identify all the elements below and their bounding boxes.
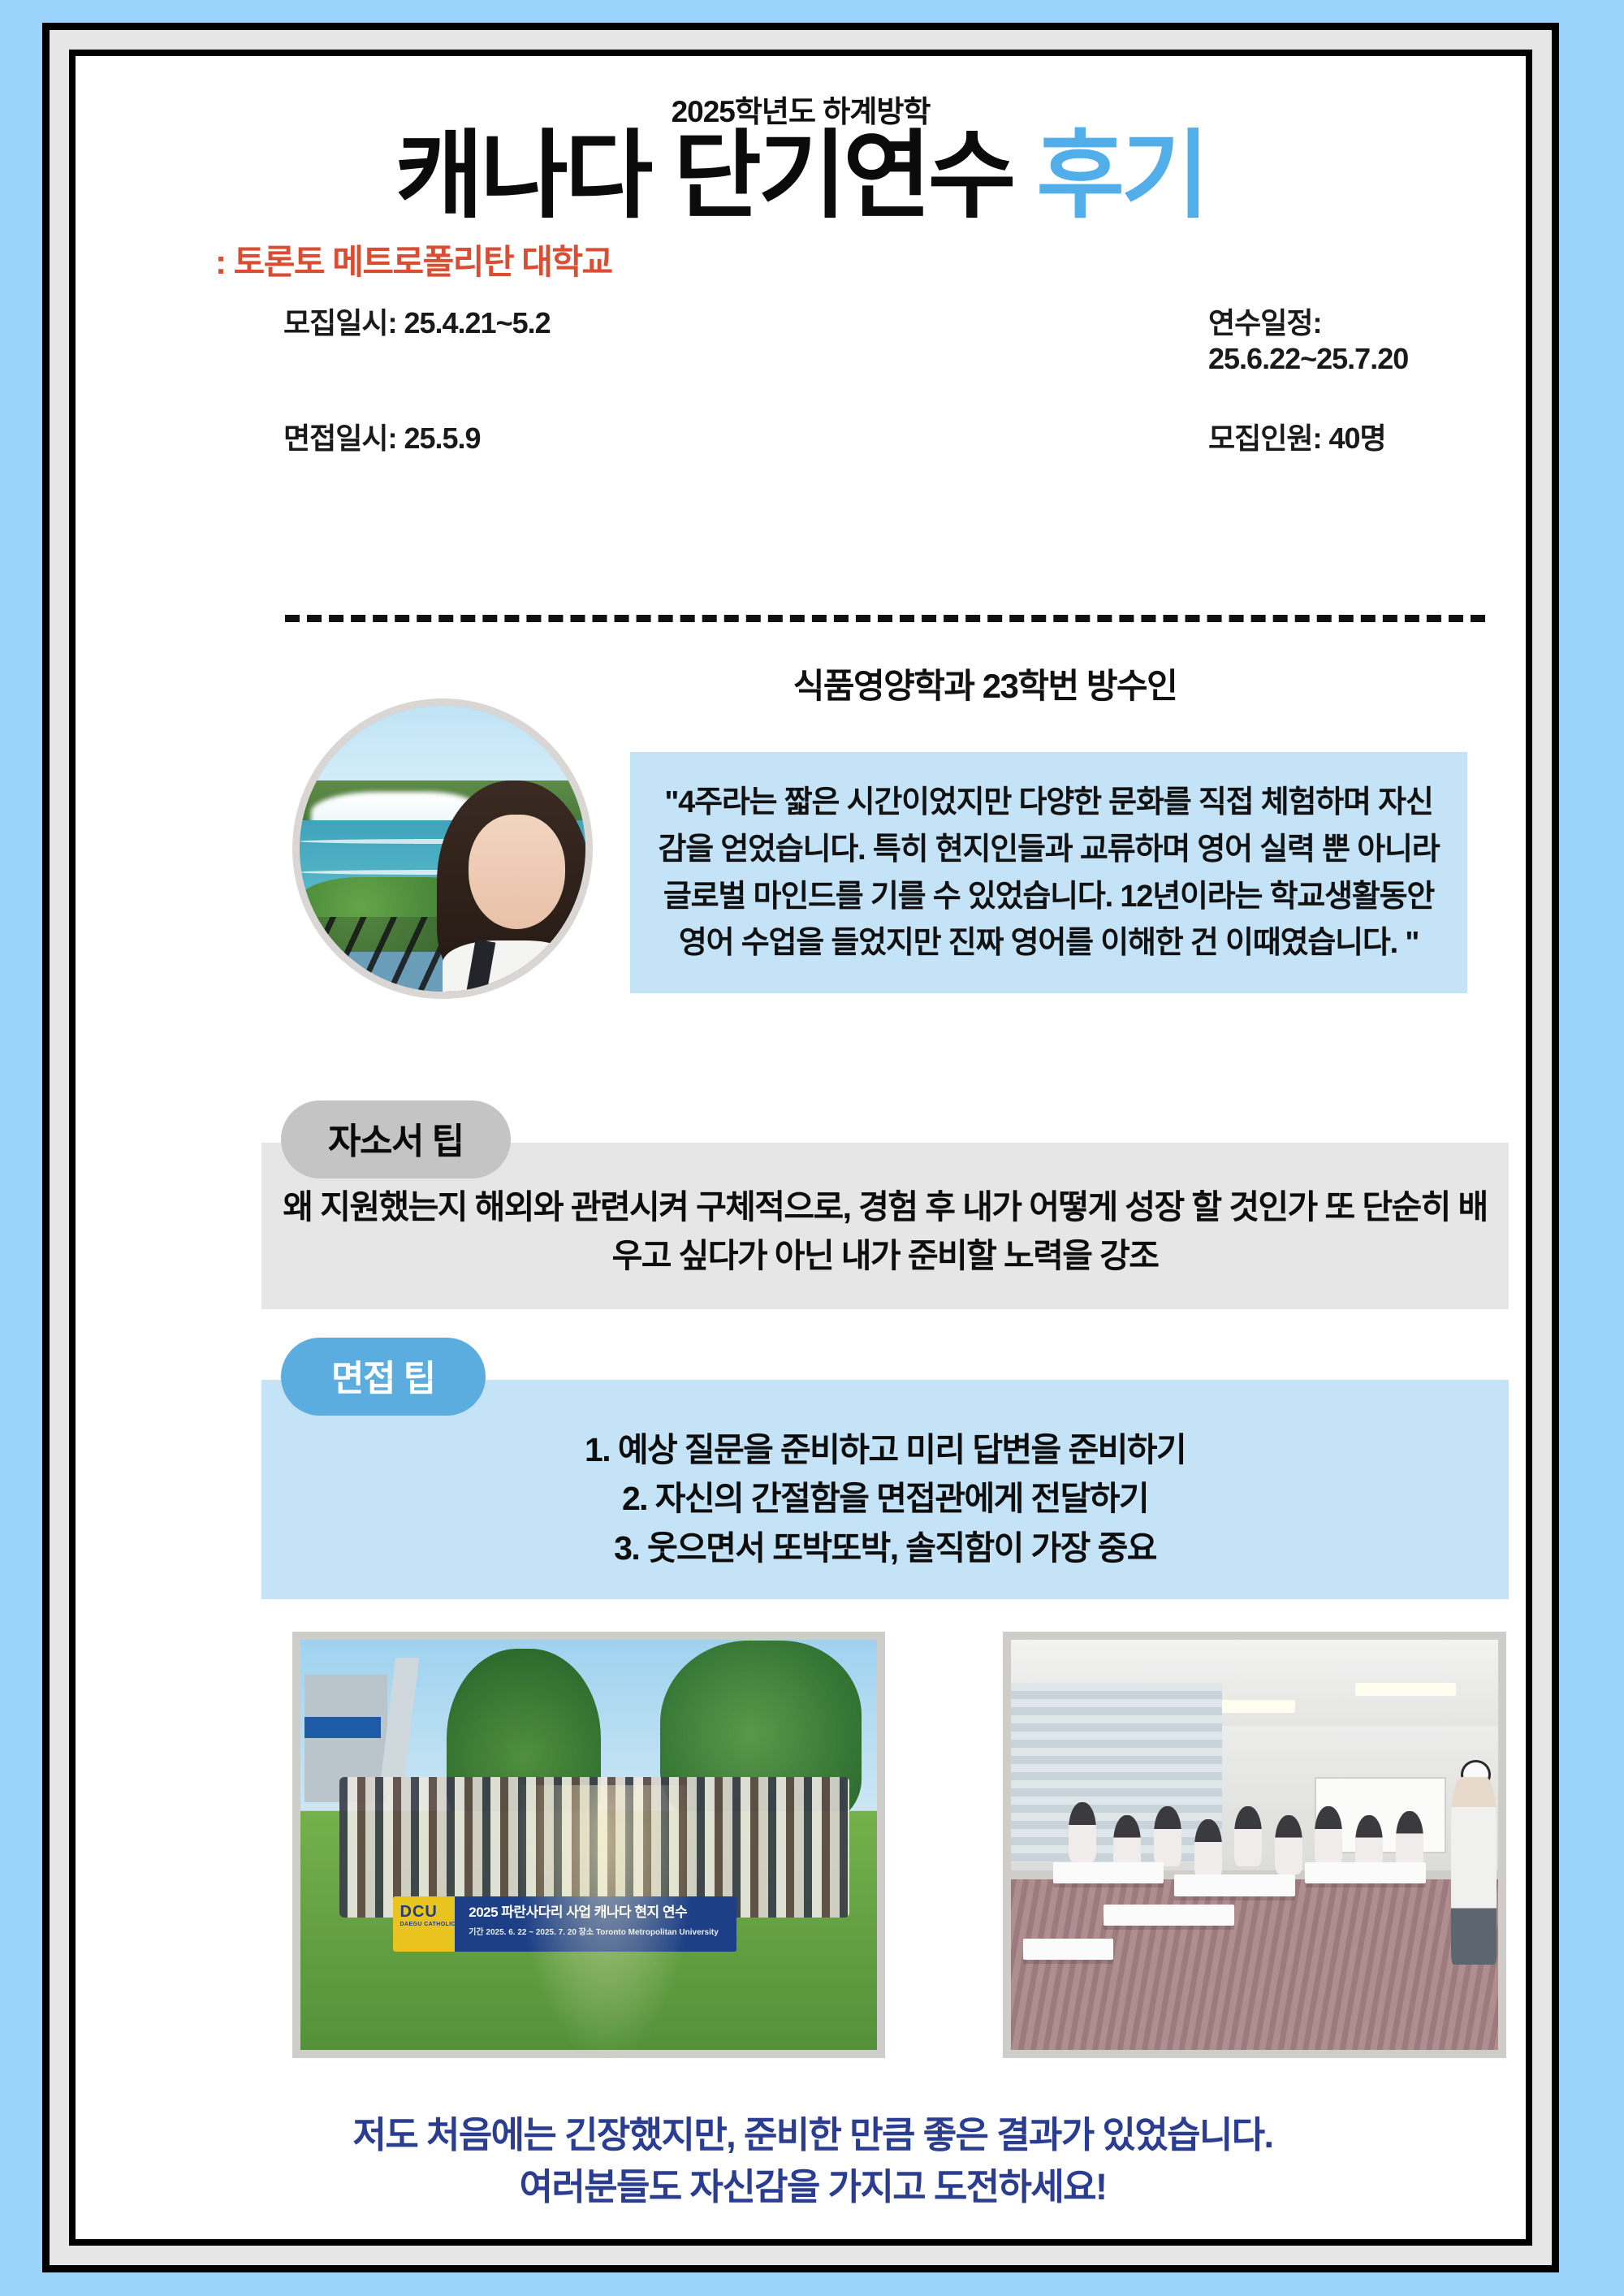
classroom-student (1275, 1815, 1302, 1875)
classroom-desk (1305, 1862, 1426, 1883)
classroom-student (1194, 1819, 1222, 1879)
interview-tip-item: 3. 웃으면서 또박또박, 솔직함이 가장 중요 (279, 1524, 1492, 1572)
classroom-student (1234, 1806, 1262, 1866)
info-recruit-period: 모집일시: 25.4.21~5.2 (230, 300, 867, 376)
poster-outer-frame: 2025학년도 하계방학 캐나다 단기연수 후기 : 토론토 메트로폴리탄 대학… (42, 23, 1559, 2272)
self-intro-tip-body: 왜 지원했는지 해외와 관련시켜 구체적으로, 경험 후 내가 어떻게 성장 할… (279, 1183, 1492, 1281)
group-photo-sign (304, 1717, 382, 1738)
footer-message: 저도 처음에는 긴장했지만, 준비한 만큼 좋은 결과가 있었습니다. 여러분들… (205, 2109, 1420, 2213)
program-info-grid: 모집일시: 25.4.21~5.2 연수일정: 25.6.22~25.7.20 … (230, 300, 1505, 457)
interview-tip-badge: 면접 팁 (281, 1338, 486, 1416)
photo-person-face (469, 815, 566, 929)
dcu-logo-text: DCU (400, 1903, 438, 1921)
classroom-light (1214, 1700, 1294, 1713)
classroom-desk (1104, 1905, 1234, 1926)
group-photo-lens-flare (517, 1785, 695, 2058)
info-interview-date: 면접일시: 25.5.9 (230, 415, 867, 457)
classroom-light (1355, 1683, 1456, 1696)
photo-person-shirt (443, 940, 580, 992)
page-title-accent: 후기 (1036, 123, 1206, 230)
classroom-student (1154, 1806, 1181, 1866)
classroom-instructor (1451, 1777, 1497, 1965)
self-intro-tip-badge: 자소서 팁 (281, 1100, 511, 1178)
page-title-main: 캐나다 단기연수 (395, 123, 1037, 230)
interview-tip-item: 2. 자신의 간절함을 면접관에게 전달하기 (279, 1474, 1492, 1523)
interview-tip-list: 1. 예상 질문을 준비하고 미리 답변을 준비하기 2. 자신의 간절함을 면… (279, 1425, 1492, 1572)
reviewer-quote: "4주라는 짧은 시간이었지만 다양한 문화를 직접 체험하며 자신감을 얻었습… (630, 752, 1467, 993)
classroom-photo (1003, 1632, 1506, 2058)
footer-line-2: 여러분들도 자신감을 가지고 도전하세요! (205, 2161, 1420, 2213)
interview-tip-item: 1. 예상 질문을 준비하고 미리 답변을 준비하기 (279, 1425, 1492, 1474)
classroom-desk (1174, 1874, 1295, 1896)
group-photo: DCU DAEGU CATHOLIC UNIVERSITY 2025 파란사다리… (292, 1632, 885, 2058)
page-subtitle: : 토론토 메트로폴리탄 대학교 (215, 235, 612, 284)
reviewer-name: 식품영양학과 23학번 방수인 (579, 659, 1391, 708)
page-title: 캐나다 단기연수 후기 (76, 123, 1526, 230)
section-divider (285, 615, 1485, 622)
poster-content: 2025학년도 하계방학 캐나다 단기연수 후기 : 토론토 메트로폴리탄 대학… (76, 56, 1526, 2239)
info-quota: 모집인원: 40명 (867, 415, 1505, 457)
reviewer-profile-photo (300, 706, 585, 992)
poster-page: 2025학년도 하계방학 캐나다 단기연수 후기 : 토론토 메트로폴리탄 대학… (69, 50, 1532, 2246)
classroom-student (1315, 1806, 1342, 1866)
classroom-carpet (1011, 1879, 1498, 2050)
classroom-student (1396, 1811, 1423, 1871)
info-program-period: 연수일정: 25.6.22~25.7.20 (867, 300, 1505, 376)
footer-line-1: 저도 처음에는 긴장했지만, 준비한 만큼 좋은 결과가 있었습니다. (205, 2109, 1420, 2161)
classroom-desk (1023, 1939, 1114, 1960)
classroom-desk (1053, 1862, 1164, 1883)
classroom-student (1069, 1802, 1096, 1862)
